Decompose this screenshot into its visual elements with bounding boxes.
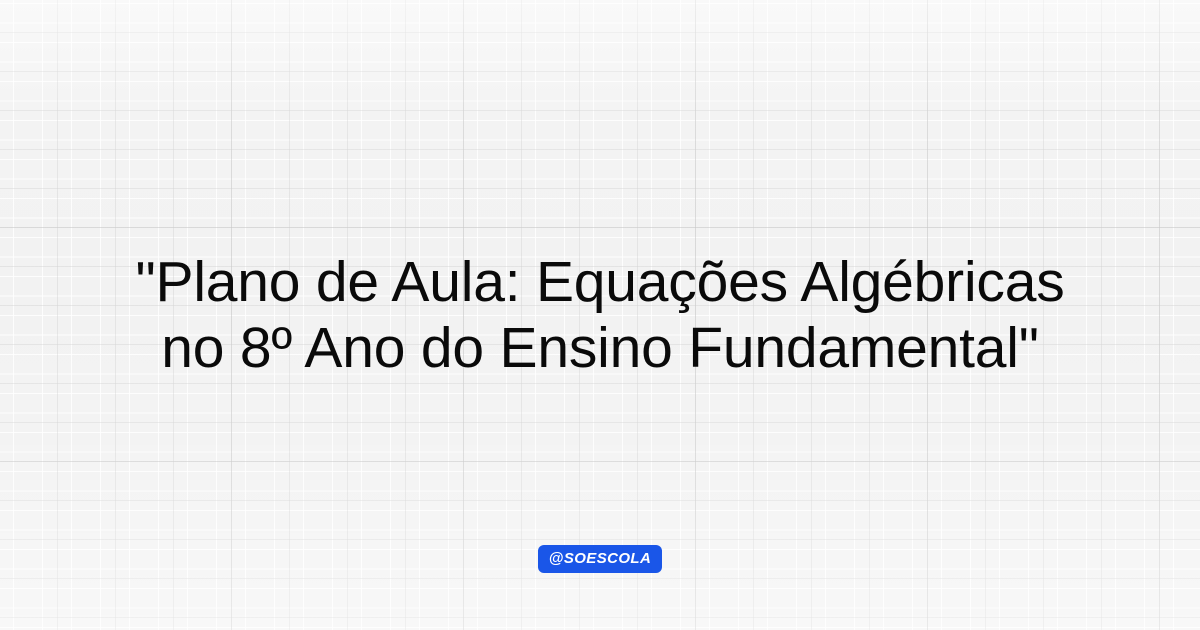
- watermark-area: @SOESCOLA: [0, 545, 1200, 573]
- og-card: "Plano de Aula: Equações Algébricas no 8…: [0, 0, 1200, 630]
- card-content: "Plano de Aula: Equações Algébricas no 8…: [0, 0, 1200, 630]
- page-title: "Plano de Aula: Equações Algébricas no 8…: [25, 249, 1175, 381]
- watermark-badge: @SOESCOLA: [538, 545, 662, 573]
